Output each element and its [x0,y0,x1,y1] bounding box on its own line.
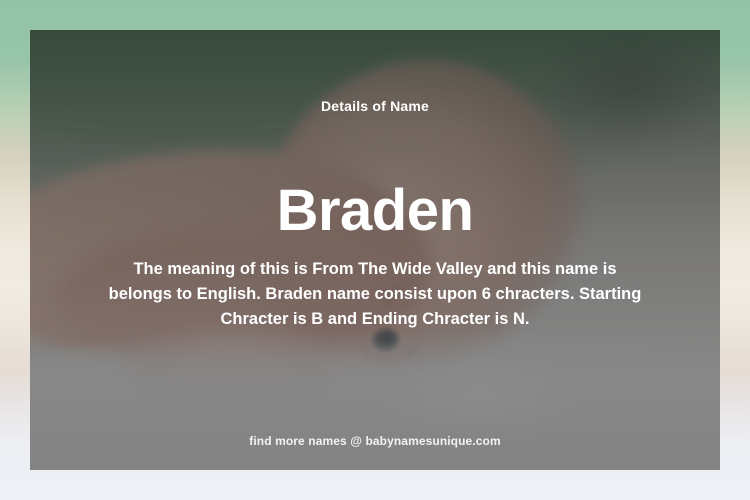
card-content: Details of Name Braden The meaning of th… [30,30,720,470]
page-background: Details of Name Braden The meaning of th… [0,0,750,500]
baby-name-title: Braden [30,182,720,240]
card-kicker-label: Details of Name [30,98,720,114]
name-details-card: Details of Name Braden The meaning of th… [30,30,720,470]
site-attribution-footer: find more names @ babynamesunique.com [30,434,720,448]
name-meaning-text: The meaning of this is From The Wide Val… [105,257,645,332]
